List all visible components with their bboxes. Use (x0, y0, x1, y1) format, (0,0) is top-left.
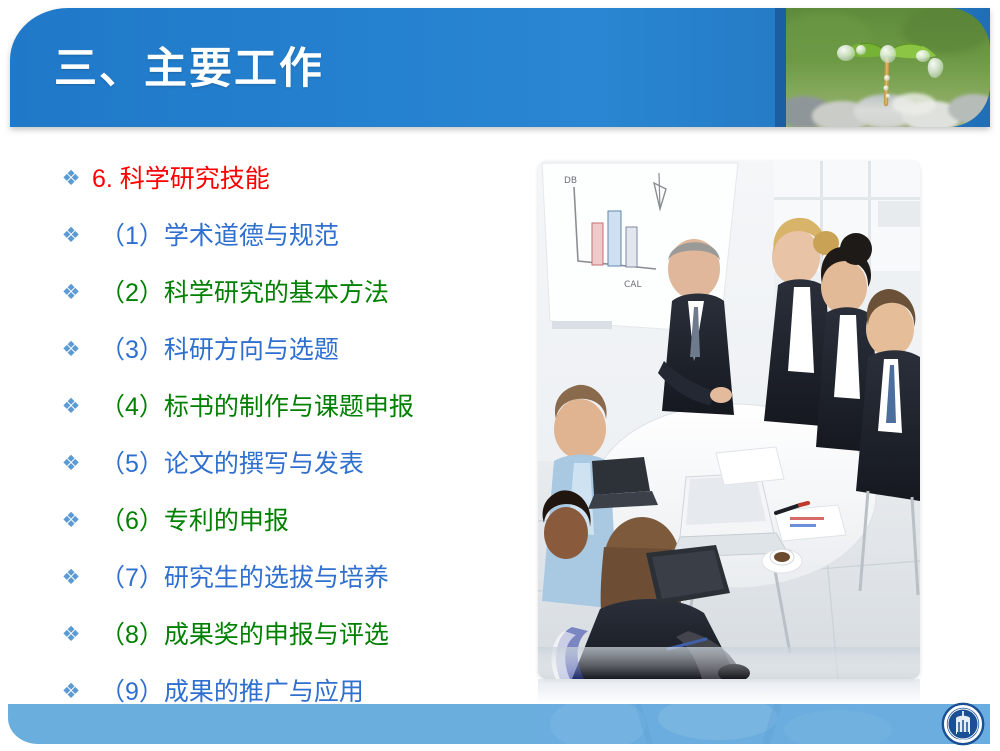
list-item-label: （5）论文的撰写与发表 (100, 449, 364, 479)
diamond-bullet-icon: ❖ (60, 453, 82, 475)
list-item-label: （4）标书的制作与课题申报 (100, 392, 414, 422)
list-item[interactable]: ❖ （3）科研方向与选题 (0, 321, 520, 378)
slide-canvas: 三、主要工作 (0, 0, 1000, 750)
diamond-bullet-icon: ❖ (60, 567, 82, 589)
university-seal-icon (941, 702, 985, 746)
diamond-bullet-icon: ❖ (60, 624, 82, 646)
list-item[interactable]: ❖ （6）专利的申报 (0, 492, 520, 549)
whiteboard-y-label: DB (564, 176, 577, 186)
diamond-bullet-icon: ❖ (60, 510, 82, 532)
footer-bleed-icon (538, 704, 990, 744)
list-item[interactable]: ❖ （7）研究生的选拔与培养 (0, 549, 520, 606)
whiteboard-x-label: CAL (624, 280, 641, 290)
person-upper-left-woman (543, 490, 591, 559)
list-item-label: （9）成果的推广与应用 (100, 677, 364, 707)
list-item[interactable]: ❖ （8）成果奖的申报与评选 (0, 606, 520, 663)
meeting-scene-illustration-icon: DB CAL (538, 161, 920, 679)
diamond-bullet-icon: ❖ (60, 168, 82, 190)
photo-reflection (538, 679, 920, 705)
slide-footer-bar (8, 704, 990, 744)
footer-photo-bleed (538, 704, 990, 744)
list-item-label: （3）科研方向与选题 (100, 335, 339, 365)
list-item[interactable]: ❖ （1）学术道德与规范 (0, 207, 520, 264)
diamond-bullet-icon: ❖ (60, 396, 82, 418)
content-bullet-list: ❖ 6. 科学研究技能 ❖ （1）学术道德与规范 ❖ （2）科学研究的基本方法 … (0, 150, 520, 720)
list-item[interactable]: ❖ （5）论文的撰写与发表 (0, 435, 520, 492)
list-item-label: （6）专利的申报 (100, 506, 289, 536)
diamond-bullet-icon: ❖ (60, 282, 82, 304)
diamond-bullet-icon: ❖ (60, 225, 82, 247)
list-item-label: （8）成果奖的申报与评选 (100, 620, 389, 650)
page-title: 三、主要工作 (54, 46, 324, 93)
university-seal-logo (941, 702, 985, 746)
diamond-bullet-icon: ❖ (60, 681, 82, 703)
list-item[interactable]: ❖ （4）标书的制作与课题申报 (0, 378, 520, 435)
list-item[interactable]: ❖ 6. 科学研究技能 (0, 150, 520, 207)
seedling-sprout-with-water-droplets-image (786, 8, 990, 127)
list-item[interactable]: ❖ （2）科学研究的基本方法 (0, 264, 520, 321)
diamond-bullet-icon: ❖ (60, 339, 82, 361)
list-item-label: （2）科学研究的基本方法 (100, 278, 389, 308)
list-item-label: 6. 科学研究技能 (92, 164, 270, 194)
coffee-cup (762, 549, 802, 573)
header-accent-strip (775, 8, 786, 127)
list-item-label: （7）研究生的选拔与培养 (100, 563, 389, 593)
business-meeting-photo: DB CAL (538, 161, 920, 679)
seedling-illustration-icon (786, 8, 990, 127)
slide-header: 三、主要工作 (0, 0, 1000, 136)
list-item-label: （1）学术道德与规范 (100, 221, 339, 251)
